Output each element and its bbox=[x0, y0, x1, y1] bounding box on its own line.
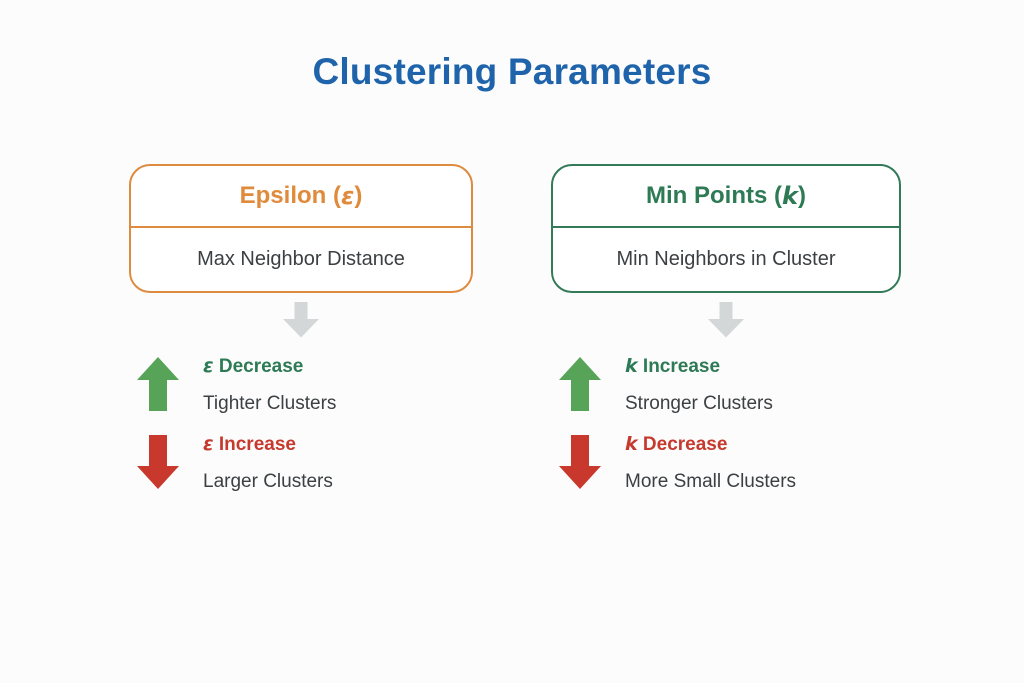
effect-description-epsilon-increase: Larger Clusters bbox=[203, 454, 473, 491]
parameter-title-text: Min Points ( bbox=[646, 182, 782, 210]
parameter-card-title-min-points: Min Points (k) bbox=[553, 166, 899, 228]
parameter-card-min-points: Min Points (k) Min Neighbors in Cluster bbox=[551, 164, 901, 293]
parameter-title-suffix: ) bbox=[354, 182, 362, 210]
parameter-column-epsilon: Epsilon (ε) Max Neighbor Distance ε Decr… bbox=[129, 164, 473, 506]
arrow-down-red-icon bbox=[135, 434, 181, 495]
arrow-down-gray-icon bbox=[281, 302, 321, 338]
effects-list-epsilon: ε Decrease Tighter Clusters ε Increase L… bbox=[129, 350, 473, 506]
effect-label-text: Increase bbox=[214, 434, 296, 455]
k-symbol: k bbox=[625, 433, 638, 455]
effect-label-epsilon-decrease: ε Decrease bbox=[203, 350, 473, 376]
epsilon-symbol: ε bbox=[341, 182, 354, 210]
effect-label-k-increase: k Increase bbox=[625, 350, 901, 376]
parameter-card-title-epsilon: Epsilon (ε) bbox=[131, 166, 471, 228]
arrow-down-gray-icon bbox=[706, 302, 746, 338]
k-symbol: k bbox=[625, 355, 638, 377]
arrow-up-green-icon bbox=[135, 356, 181, 417]
parameter-card-subtitle-min-points: Min Neighbors in Cluster bbox=[553, 228, 899, 291]
parameter-title-text: Epsilon ( bbox=[240, 182, 341, 210]
effect-row-epsilon-increase: ε Increase Larger Clusters bbox=[203, 428, 473, 506]
page-title: Clustering Parameters bbox=[0, 50, 1024, 94]
effect-label-text: Decrease bbox=[214, 356, 304, 377]
connector-min-points bbox=[551, 302, 901, 338]
effect-description-k-increase: Stronger Clusters bbox=[625, 376, 901, 413]
effect-row-epsilon-decrease: ε Decrease Tighter Clusters bbox=[203, 350, 473, 428]
epsilon-symbol: ε bbox=[203, 355, 214, 377]
effect-description-epsilon-decrease: Tighter Clusters bbox=[203, 376, 473, 413]
effect-description-k-decrease: More Small Clusters bbox=[625, 454, 901, 491]
arrow-up-green-icon bbox=[557, 356, 603, 417]
effect-label-epsilon-increase: ε Increase bbox=[203, 428, 473, 454]
parameter-title-suffix: ) bbox=[798, 182, 806, 210]
effect-label-text: Increase bbox=[638, 356, 720, 377]
effect-label-text: Decrease bbox=[638, 434, 728, 455]
k-symbol: k bbox=[782, 182, 798, 210]
effects-list-min-points: k Increase Stronger Clusters k Decrease … bbox=[551, 350, 901, 506]
epsilon-symbol: ε bbox=[203, 433, 214, 455]
connector-epsilon bbox=[129, 302, 473, 338]
effect-row-k-increase: k Increase Stronger Clusters bbox=[625, 350, 901, 428]
parameter-card-epsilon: Epsilon (ε) Max Neighbor Distance bbox=[129, 164, 473, 293]
parameter-column-min-points: Min Points (k) Min Neighbors in Cluster … bbox=[551, 164, 901, 506]
effect-row-k-decrease: k Decrease More Small Clusters bbox=[625, 428, 901, 506]
effect-label-k-decrease: k Decrease bbox=[625, 428, 901, 454]
parameter-card-subtitle-epsilon: Max Neighbor Distance bbox=[131, 228, 471, 291]
arrow-down-red-icon bbox=[557, 434, 603, 495]
